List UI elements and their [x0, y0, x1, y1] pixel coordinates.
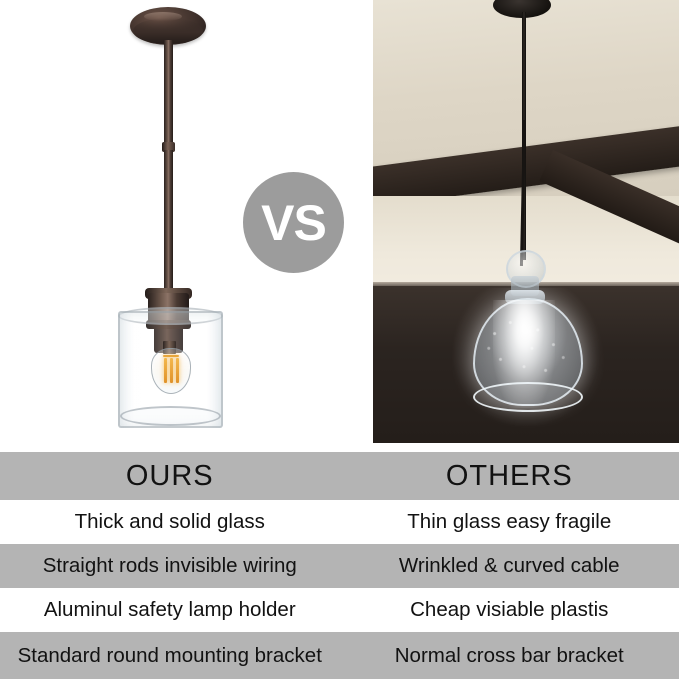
- others-feature-3: Cheap visiable plastis: [340, 588, 679, 632]
- vs-label: VS: [261, 198, 326, 248]
- column-header-others: OTHERS: [340, 452, 679, 500]
- ours-feature-3: Aluminul safety lamp holder: [0, 588, 340, 632]
- table-row: Aluminul safety lamp holder Cheap visiab…: [0, 588, 679, 632]
- others-product-photo: [373, 0, 679, 443]
- bulb-filament: [170, 358, 173, 383]
- ours-feature-1: Thick and solid glass: [0, 500, 340, 544]
- glass-shade-bottom-rim: [120, 406, 221, 426]
- comparison-infographic: VS OURS OTHERS: [0, 0, 679, 679]
- canopy-highlight: [144, 12, 182, 21]
- hero-comparison-area: VS: [0, 0, 679, 452]
- table-header-row: OURS OTHERS: [0, 452, 679, 500]
- bulb-filament: [176, 358, 179, 383]
- table-row: Standard round mounting bracket Normal c…: [0, 632, 679, 679]
- photo-shade-bottom-rim: [473, 382, 583, 412]
- others-feature-4: Normal cross bar bracket: [340, 632, 679, 679]
- down-rod-lower: [164, 150, 173, 298]
- ours-feature-4: Standard round mounting bracket: [0, 632, 340, 679]
- vs-badge: VS: [243, 172, 344, 273]
- others-feature-1: Thin glass easy fragile: [340, 500, 679, 544]
- table-row: Thick and solid glass Thin glass easy fr…: [0, 500, 679, 544]
- column-header-ours: OURS: [0, 452, 340, 500]
- comparison-table: OURS OTHERS Thick and solid glass Thin g…: [0, 452, 679, 679]
- bulb-filament: [164, 358, 167, 383]
- ours-feature-2: Straight rods invisible wiring: [0, 544, 340, 588]
- table-row: Straight rods invisible wiring Wrinkled …: [0, 544, 679, 588]
- down-rod-upper: [164, 40, 173, 148]
- others-feature-2: Wrinkled & curved cable: [340, 544, 679, 588]
